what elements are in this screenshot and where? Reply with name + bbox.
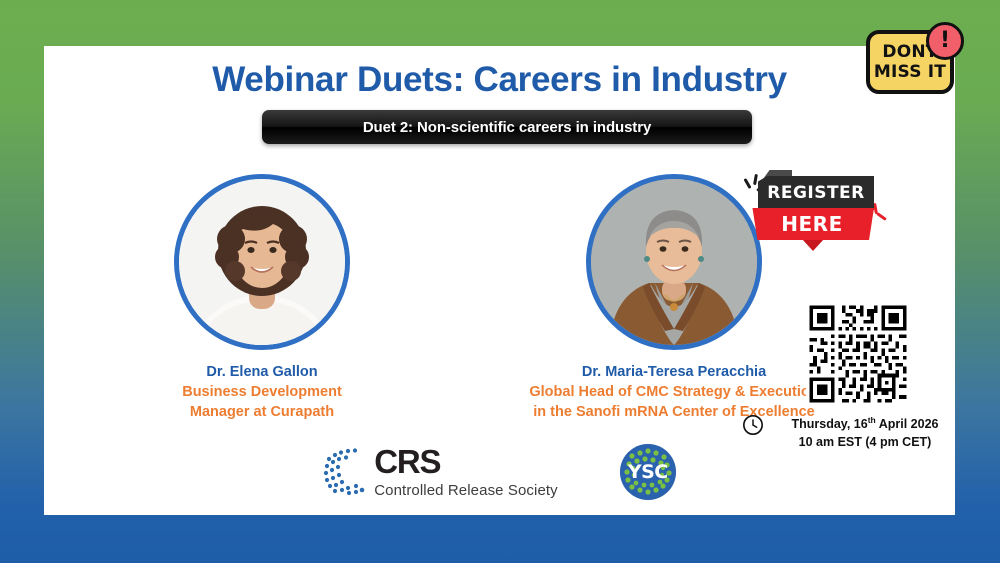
- schedule-date: Thursday, 16th April 2026: [773, 414, 957, 434]
- register-here-badge[interactable]: REGISTER HERE: [744, 166, 884, 250]
- dont-miss-it-line-2: MISS IT: [874, 64, 946, 81]
- speaker-2-avatar: [586, 174, 762, 350]
- portrait-elena-gallon-illustration: [179, 179, 345, 345]
- speaker-1-avatar: [174, 174, 350, 350]
- register-badge-bottom[interactable]: HERE: [750, 208, 874, 240]
- qr-code[interactable]: [806, 302, 910, 406]
- subtitle-text: Duet 2: Non-scientific careers in indust…: [363, 119, 651, 136]
- speaker-1-role-line-1: Business Development: [132, 382, 392, 402]
- subtitle-banner: Duet 2: Non-scientific careers in indust…: [262, 110, 752, 144]
- speaker-1-role-line-2: Manager at Curapath: [132, 402, 392, 422]
- exclamation-badge-icon: !: [926, 22, 964, 60]
- logo-row: CRS Controlled Release Society: [44, 444, 955, 500]
- speaker-1-name: Dr. Elena Gallon: [132, 362, 392, 382]
- ysc-abbreviation: YSC: [628, 461, 668, 483]
- register-badge-tail: [802, 239, 824, 251]
- crs-tagline: Controlled Release Society: [374, 482, 558, 499]
- poster-card: Webinar Duets: Careers in Industry Duet …: [44, 46, 955, 515]
- register-badge-top[interactable]: REGISTER: [758, 176, 874, 210]
- speaker-card-1: Dr. Elena Gallon Business Development Ma…: [132, 174, 392, 422]
- crs-logo: CRS Controlled Release Society: [323, 445, 558, 499]
- dont-miss-it-sticker: DONT MISS IT !: [866, 22, 964, 96]
- here-label: HERE: [781, 212, 842, 236]
- webinar-poster: Webinar Duets: Careers in Industry Duet …: [0, 0, 1000, 563]
- page-title: Webinar Duets: Careers in Industry: [44, 60, 955, 100]
- clock-icon: [742, 414, 764, 436]
- qr-code-graphic: [806, 302, 910, 406]
- register-label: REGISTER: [767, 183, 865, 203]
- ysc-logo: YSC: [620, 444, 676, 500]
- crs-abbreviation: CRS: [374, 445, 558, 478]
- crs-dot-swirl-icon: [323, 447, 371, 499]
- portrait-maria-teresa-peracchia-illustration: [591, 179, 757, 345]
